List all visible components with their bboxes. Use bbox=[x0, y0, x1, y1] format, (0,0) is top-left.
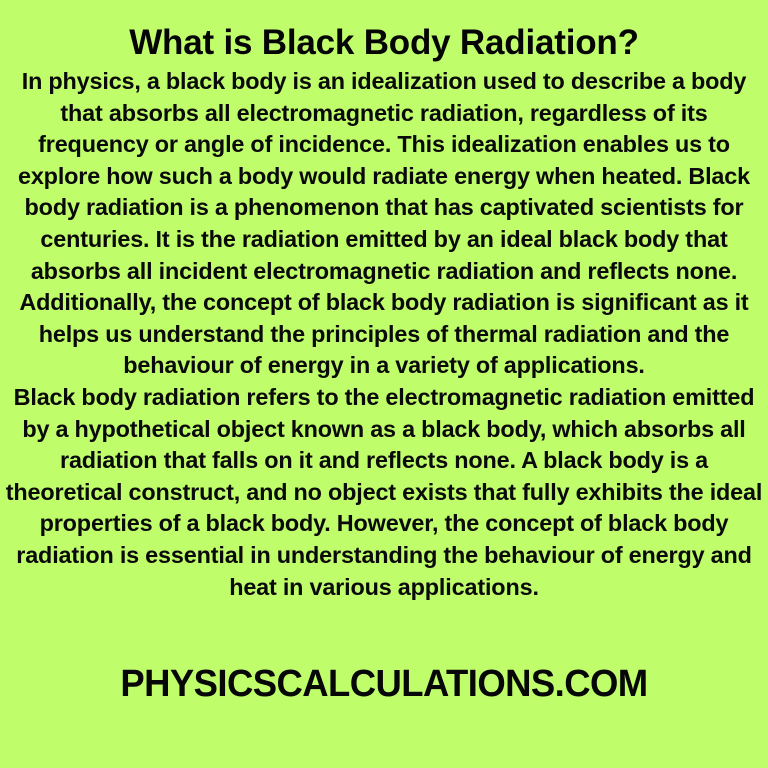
body-paragraph-1: In physics, a black body is an idealizat… bbox=[4, 66, 764, 382]
body-paragraph-2: Black body radiation refers to the elect… bbox=[4, 382, 764, 603]
brand-watermark: PHYSICSCALCULATIONS.COM bbox=[15, 662, 752, 706]
body-section: In physics, a black body is an idealizat… bbox=[0, 63, 768, 603]
page-title: What is Black Body Radiation? bbox=[20, 22, 748, 63]
poster-canvas: What is Black Body Radiation? In physics… bbox=[0, 0, 768, 768]
title-section: What is Black Body Radiation? bbox=[0, 0, 768, 63]
footer-section: PHYSICSCALCULATIONS.COM bbox=[0, 662, 768, 706]
